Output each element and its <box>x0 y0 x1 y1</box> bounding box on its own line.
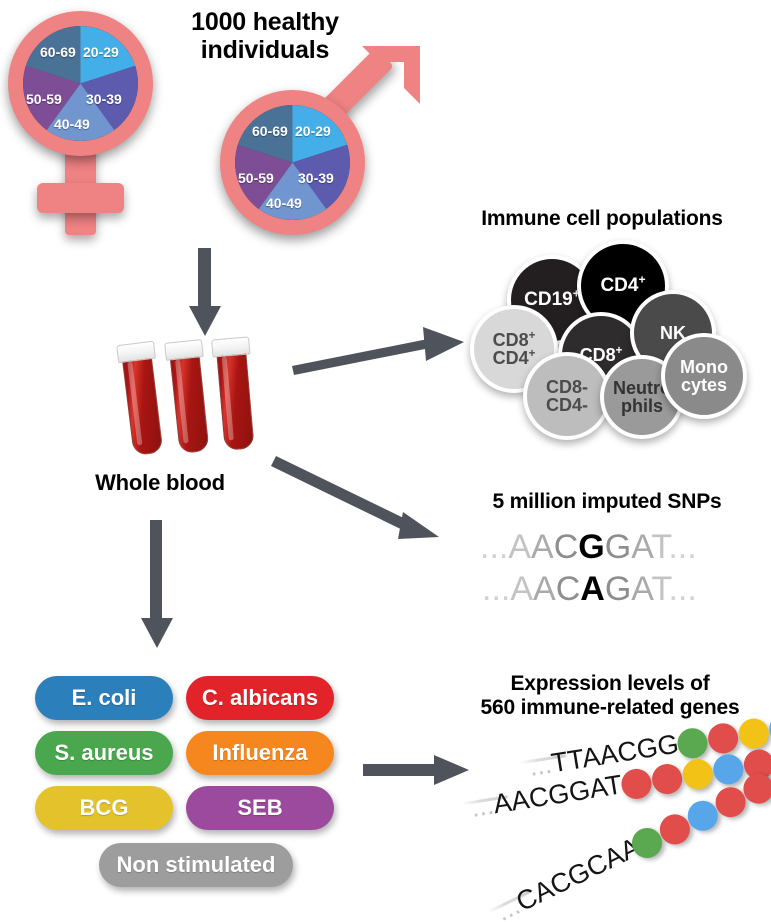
expression-bead <box>649 762 683 796</box>
expression-bead <box>619 767 653 801</box>
strand-sequence: ...CACGCAA <box>491 832 645 922</box>
strand-bases: CACGCAA <box>511 832 644 918</box>
expression-strand-group: ...TTAACGG...AACGGAT...CACGCAA <box>0 0 771 922</box>
expression-bead <box>680 757 714 791</box>
figure-canvas: 1000 healthy individuals 20-29 30-39 40-… <box>0 0 771 922</box>
